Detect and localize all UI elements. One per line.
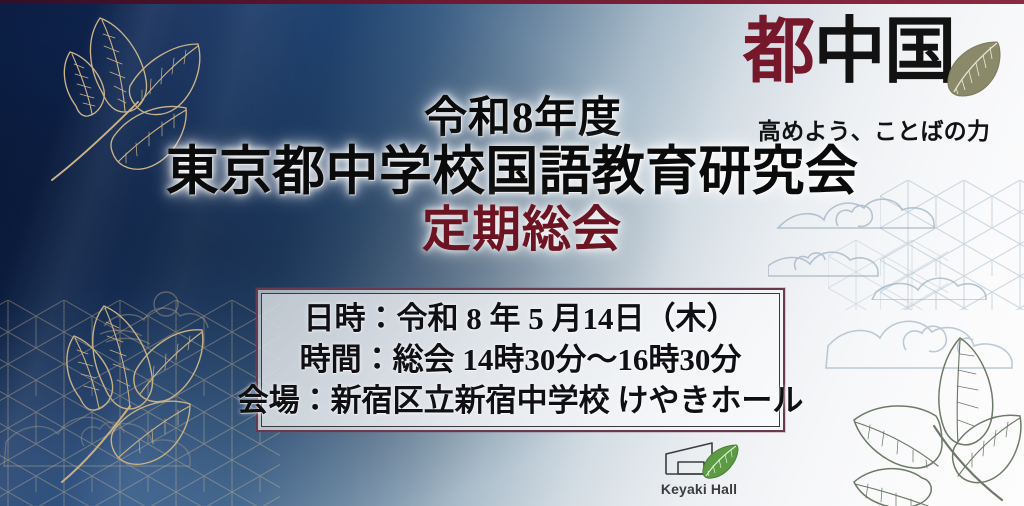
leaf-sprig-icon [18, 10, 238, 190]
venue-logo: Keyaki Hall [645, 440, 753, 497]
leaf-icon [943, 38, 1003, 105]
logo-char-chu: 中 [814, 16, 885, 88]
logo-char-to: 都 [743, 16, 814, 88]
association-logo-tagline: 高めよう、ことばの力 [745, 112, 1003, 146]
association-logo: 都 中 国 高めよう、ことばの力 [735, 16, 1010, 152]
event-detail-time: 時間：総会 14時30分〜16時30分 [300, 340, 742, 380]
venue-logo-name: Keyaki Hall [645, 481, 753, 497]
association-logo-characters: 都 中 国 [743, 16, 955, 88]
event-detail-venue: 会場：新宿区立新宿中学校 けやきホール [238, 381, 804, 421]
top-accent-rule [0, 0, 1024, 4]
japanese-cloud-pattern-icon [768, 150, 1024, 300]
event-details-inner: 日時：令和 8 年 5 月14日（木） 時間：総会 14時30分〜16時30分 … [261, 293, 780, 427]
event-details-box: 日時：令和 8 年 5 月14日（木） 時間：総会 14時30分〜16時30分 … [256, 288, 785, 432]
hall-building-leaf-icon [656, 440, 742, 480]
leaf-sprig-icon [22, 296, 222, 494]
event-detail-date: 日時：令和 8 年 5 月14日（木） [304, 299, 738, 339]
event-banner: 令和8年度 東京都中学校国語教育研究会 定期総会 日時：令和 8 年 5 月14… [0, 0, 1024, 506]
leaf-sprig-icon [836, 330, 1024, 506]
